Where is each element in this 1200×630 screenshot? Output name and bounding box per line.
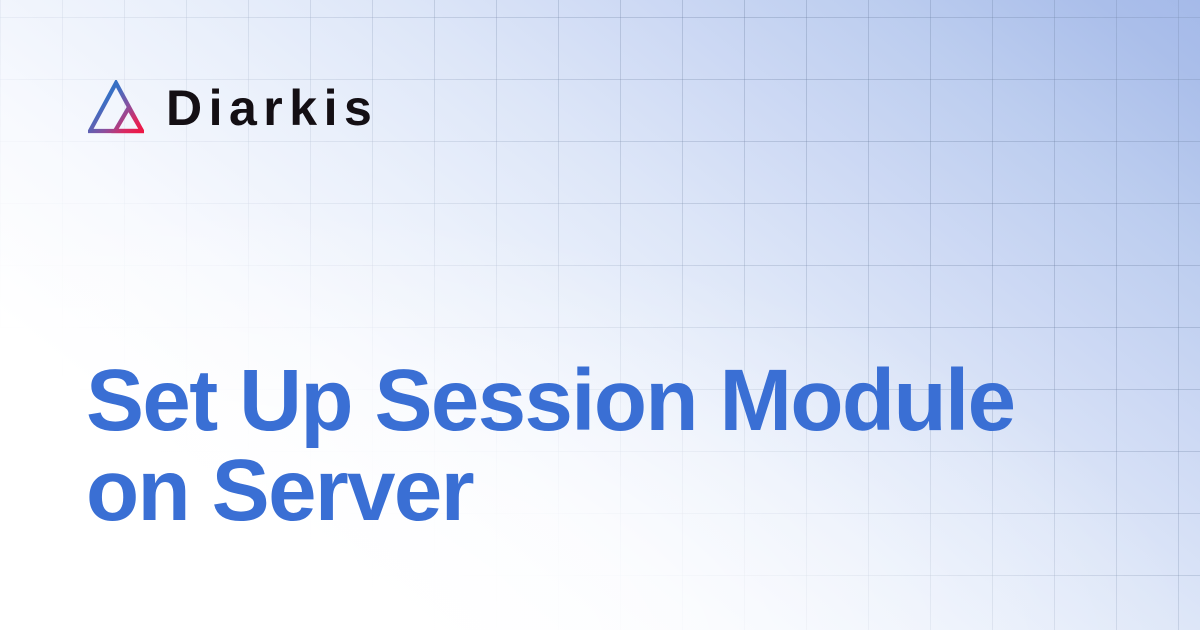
diarkis-triangle-logo-icon	[88, 80, 144, 136]
card-content: Diarkis Set Up Session Module on Server	[0, 0, 1200, 630]
brand-lockup: Diarkis	[88, 80, 378, 136]
page-title: Set Up Session Module on Server	[86, 356, 1146, 536]
brand-wordmark: Diarkis	[166, 83, 378, 133]
og-card: Diarkis Set Up Session Module on Server	[0, 0, 1200, 630]
